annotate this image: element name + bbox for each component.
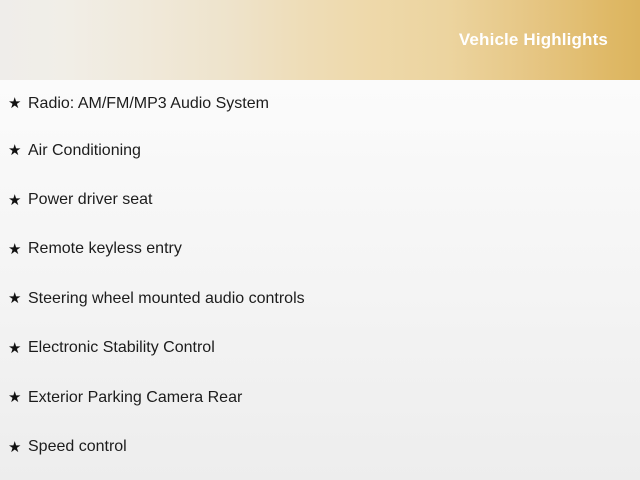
list-item-label: Steering wheel mounted audio controls: [28, 289, 305, 309]
star-bullet-icon: ★: [8, 96, 28, 111]
list-item-label: Air Conditioning: [28, 141, 141, 161]
list-item-label: Speed control: [28, 437, 127, 457]
list-item: ★ Remote keyless entry: [0, 225, 640, 274]
header-banner: Vehicle Highlights: [0, 0, 640, 80]
star-bullet-icon: ★: [8, 143, 28, 158]
star-bullet-icon: ★: [8, 341, 28, 356]
list-item: ★ Exterior Parking Camera Rear: [0, 373, 640, 422]
list-item-label: Remote keyless entry: [28, 239, 182, 259]
list-item: ★ Air Conditioning: [0, 126, 640, 175]
list-item: ★ Steering wheel mounted audio controls: [0, 274, 640, 323]
star-bullet-icon: ★: [8, 440, 28, 455]
page-title: Vehicle Highlights: [459, 29, 608, 51]
list-item: ★ Radio: AM/FM/MP3 Audio System: [0, 80, 640, 126]
list-item-label: Electronic Stability Control: [28, 338, 215, 358]
list-item-label: Radio: AM/FM/MP3 Audio System: [28, 94, 269, 114]
star-bullet-icon: ★: [8, 390, 28, 405]
vehicle-highlights-list: ★ Radio: AM/FM/MP3 Audio System ★ Air Co…: [0, 80, 640, 472]
list-item: ★ Electronic Stability Control: [0, 324, 640, 373]
star-bullet-icon: ★: [8, 193, 28, 208]
list-item-label: Exterior Parking Camera Rear: [28, 388, 242, 408]
star-bullet-icon: ★: [8, 242, 28, 257]
vehicle-highlights-page: Vehicle Highlights ★ Radio: AM/FM/MP3 Au…: [0, 0, 640, 480]
list-item: ★ Speed control: [0, 422, 640, 471]
list-item: ★ Power driver seat: [0, 175, 640, 224]
star-bullet-icon: ★: [8, 291, 28, 306]
list-item-label: Power driver seat: [28, 190, 153, 210]
